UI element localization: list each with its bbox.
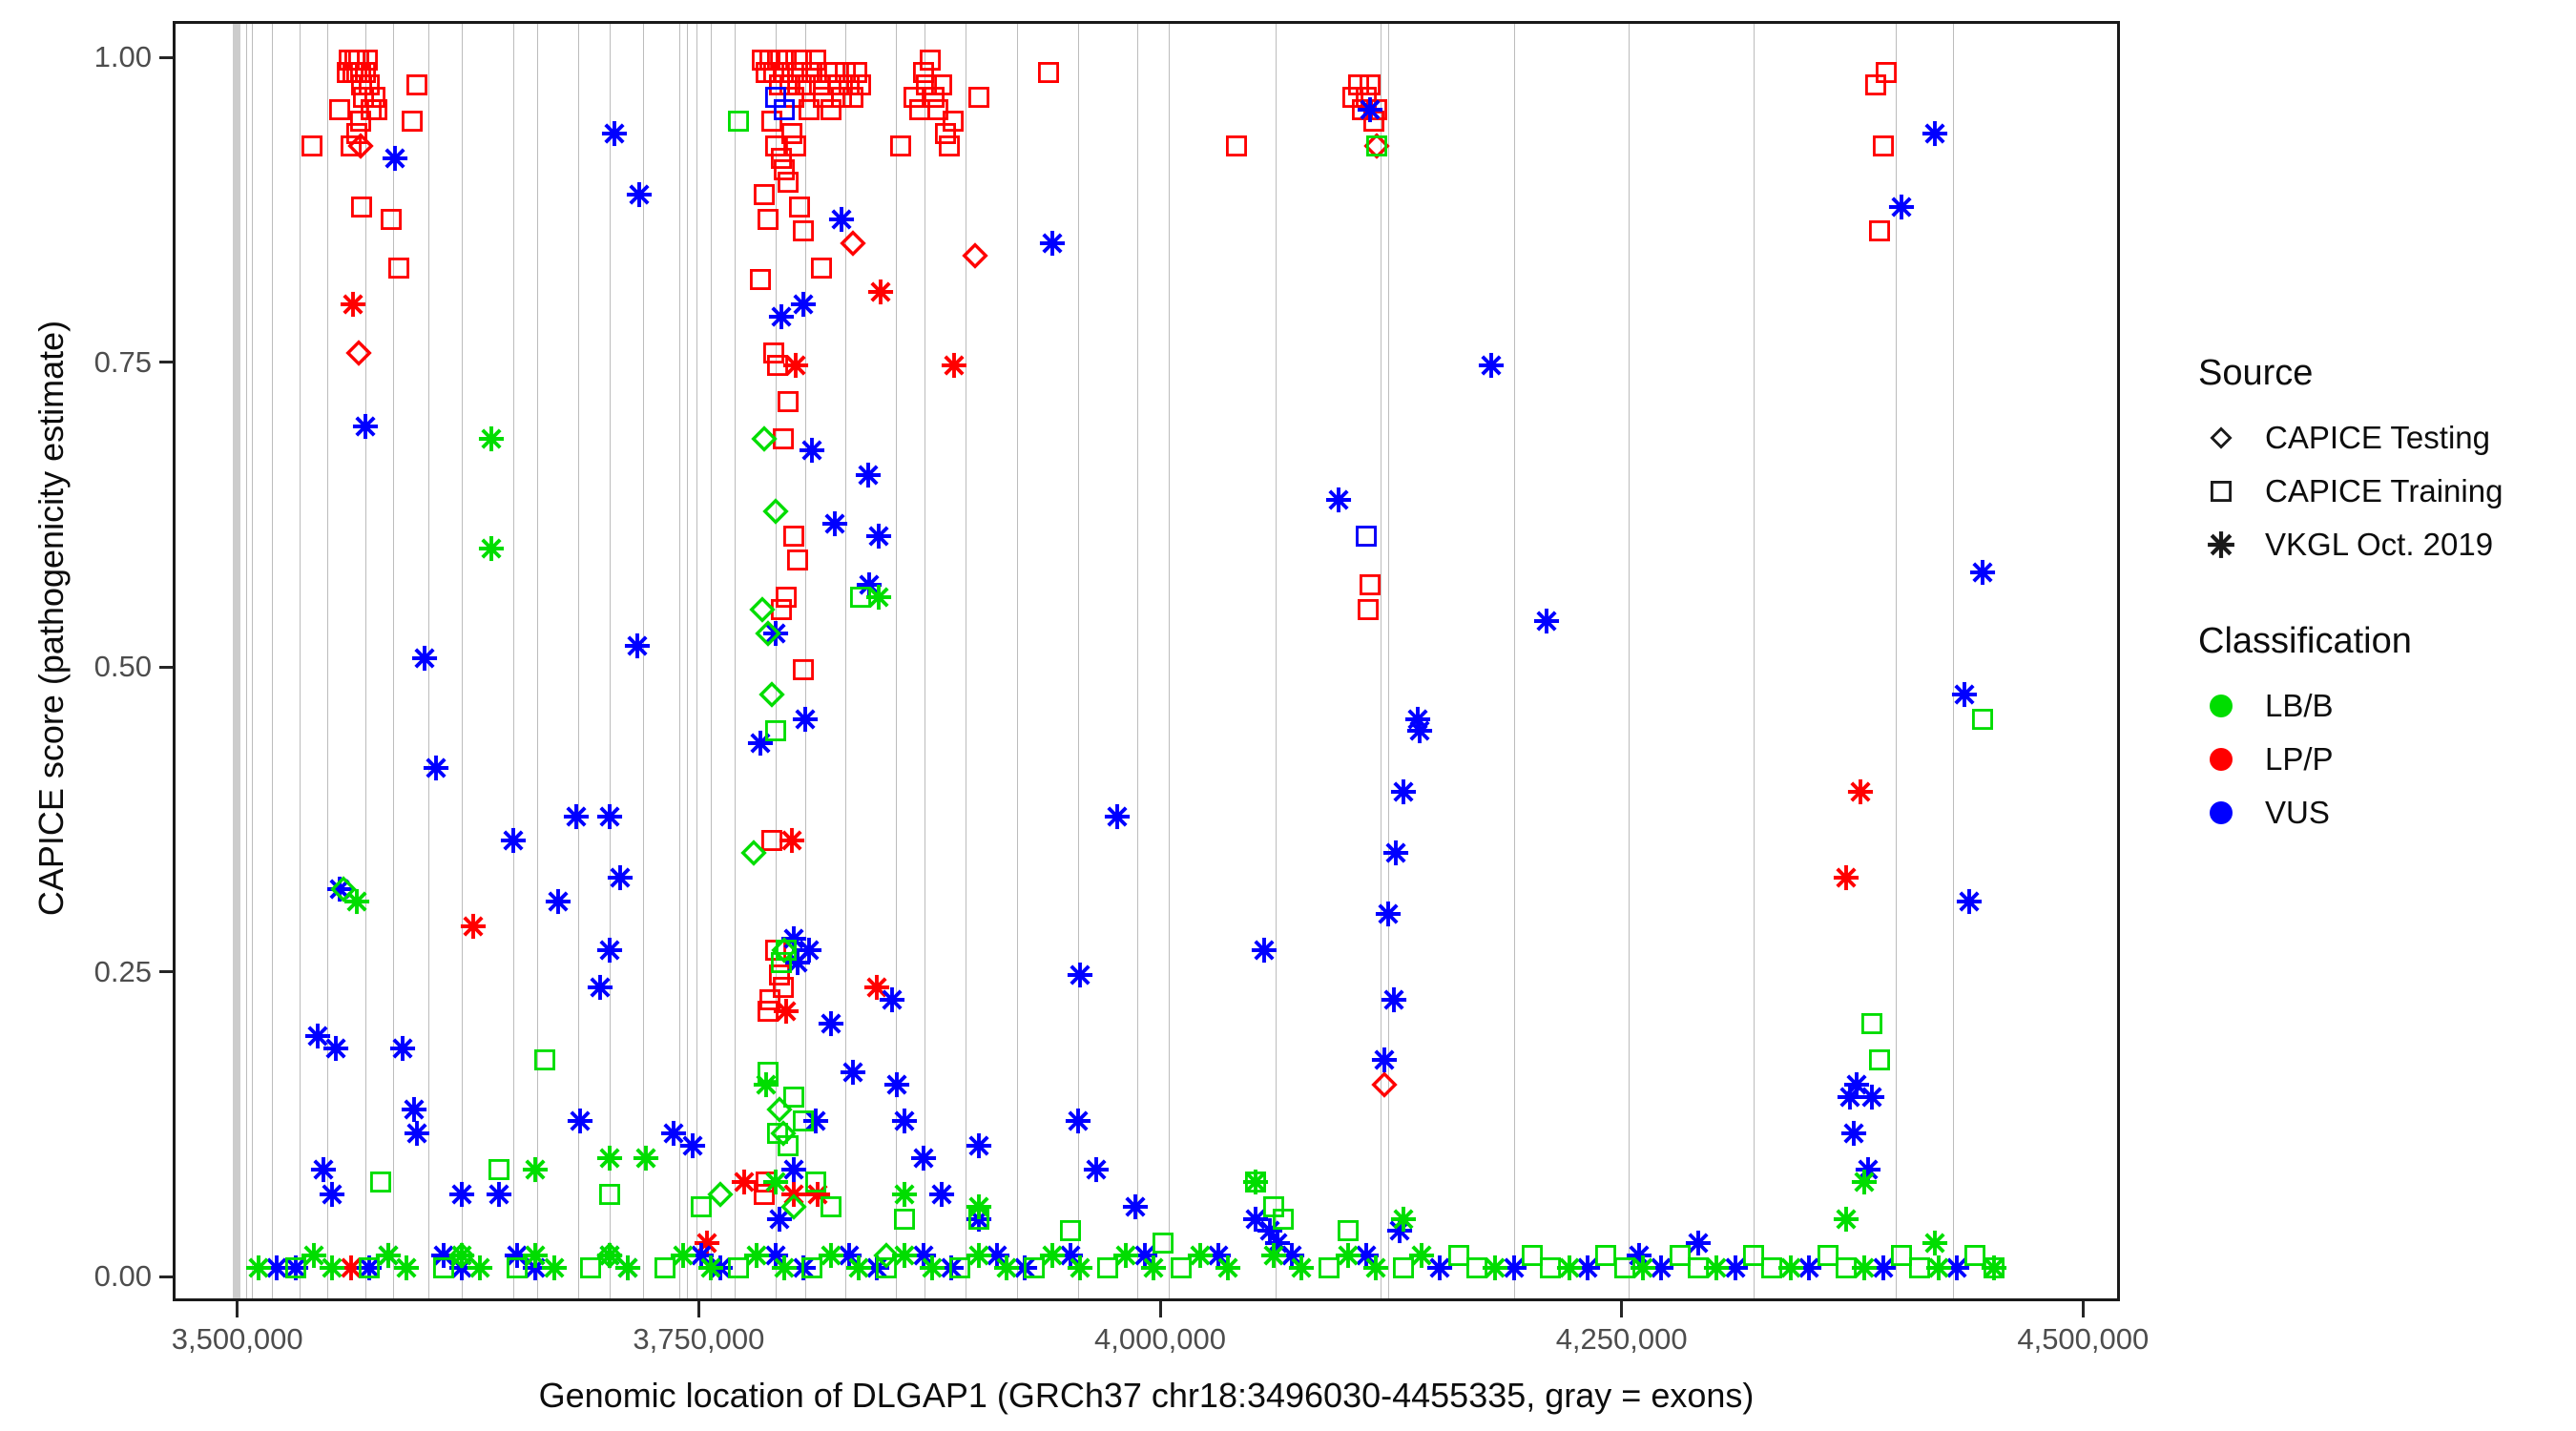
x-tick-label: 3,500,000 — [172, 1322, 303, 1357]
data-point-asterisk — [392, 1254, 421, 1282]
y-tick-label: 0.25 — [94, 955, 152, 989]
y-tick-mark — [159, 361, 173, 363]
data-point-square — [939, 135, 960, 156]
data-point-square — [1761, 1257, 1782, 1278]
exon-line — [1137, 24, 1138, 1298]
exon-band-start — [233, 24, 240, 1298]
data-point-asterisk — [693, 1229, 721, 1257]
data-point-asterisk — [1942, 1254, 1971, 1282]
data-point-square — [1024, 1257, 1045, 1278]
exon-line — [537, 24, 538, 1298]
data-point-square — [774, 159, 795, 180]
data-point-diamond — [348, 134, 373, 158]
data-point-asterisk — [459, 912, 488, 941]
data-point-square — [778, 391, 799, 412]
y-tick-mark — [159, 666, 173, 669]
data-point-asterisk — [1832, 1205, 1860, 1234]
legend-item-vkgl-oct-2019[interactable]: VKGL Oct. 2019 — [2194, 518, 2557, 571]
data-point-asterisk — [1038, 229, 1067, 258]
data-point-square — [793, 220, 814, 241]
exon-line — [1896, 24, 1897, 1298]
exon-line — [1754, 24, 1755, 1298]
data-point-square — [846, 62, 867, 83]
data-point-asterisk — [779, 1180, 808, 1209]
data-point-asterisk — [789, 290, 818, 319]
data-point-asterisk — [521, 1254, 550, 1282]
x-tick-mark — [1159, 1301, 1162, 1317]
data-point-square — [821, 1196, 841, 1217]
data-point-asterisk — [381, 144, 409, 173]
x-tick-label: 3,750,000 — [633, 1322, 764, 1357]
data-point-square — [821, 99, 841, 120]
data-point-square — [767, 50, 788, 71]
data-point-square — [1869, 220, 1890, 241]
data-point-square — [771, 599, 792, 620]
data-point-square — [890, 135, 911, 156]
data-point-square — [402, 111, 423, 132]
data-point-square — [351, 74, 372, 95]
x-axis: 3,500,0003,750,0004,000,0004,250,0004,50… — [0, 1301, 2576, 1431]
data-point-square — [789, 197, 810, 218]
data-point-asterisk — [783, 948, 812, 977]
data-point-asterisk — [1407, 1241, 1436, 1270]
data-point-asterisk — [400, 1095, 428, 1124]
data-point-square — [1360, 574, 1381, 595]
data-point-diamond — [771, 1121, 796, 1146]
data-point-diamond — [841, 231, 865, 256]
data-point-asterisk — [1950, 680, 1979, 709]
data-point-square — [1876, 62, 1897, 83]
data-point-asterisk — [844, 1254, 873, 1282]
y-tick-label: 1.00 — [94, 40, 152, 74]
data-point-asterisk — [632, 1144, 660, 1172]
data-point-asterisk — [1241, 1205, 1270, 1234]
x-tick-mark — [236, 1301, 239, 1317]
data-point-asterisk — [854, 461, 883, 489]
legend-label: VUS — [2265, 795, 2330, 831]
exon-line — [805, 24, 806, 1298]
y-tick-mark — [159, 56, 173, 59]
data-point-square — [1153, 1233, 1174, 1254]
plot-surface — [176, 24, 2117, 1298]
data-point-asterisk — [1403, 705, 1432, 734]
data-point-asterisk — [374, 1241, 403, 1270]
data-point-square — [1356, 87, 1377, 108]
data-point-square — [350, 111, 371, 132]
data-point-square — [763, 62, 784, 83]
data-point-asterisk — [1278, 1241, 1306, 1270]
x-axis-title: Genomic location of DLGAP1 (GRCh37 chr18… — [173, 1376, 2120, 1416]
data-point-asterisk — [1259, 1241, 1288, 1270]
data-point-asterisk — [600, 119, 629, 148]
data-point-square — [778, 1135, 799, 1156]
data-point-asterisk — [1361, 1254, 1390, 1282]
diamond-icon — [2194, 411, 2248, 465]
data-point-square — [507, 1257, 528, 1278]
circle-icon — [2194, 733, 2248, 786]
data-point-square — [346, 123, 367, 144]
data-point-square — [370, 1172, 391, 1192]
data-point-square — [285, 1257, 306, 1278]
data-point-square — [388, 258, 409, 279]
data-point-asterisk — [789, 1254, 818, 1282]
data-point-asterisk — [835, 1241, 863, 1270]
data-point-square — [824, 62, 845, 83]
data-point-asterisk — [1721, 1254, 1750, 1282]
data-point-square — [359, 1257, 380, 1278]
data-point-square — [1540, 1257, 1561, 1278]
y-axis: CAPICE score (pathogenicity estimate) 0.… — [0, 0, 173, 1322]
data-point-asterisk — [1858, 1083, 1886, 1111]
exon-line — [578, 24, 579, 1298]
data-point-square — [763, 342, 784, 363]
data-point-asterisk — [1370, 1046, 1399, 1074]
data-point-square — [366, 99, 387, 120]
data-point-asterisk — [485, 1180, 513, 1209]
exon-line — [696, 24, 697, 1298]
data-point-square — [1818, 1245, 1839, 1266]
data-point-square — [799, 99, 820, 120]
data-point-square — [337, 62, 358, 83]
data-point-square — [1226, 135, 1247, 156]
exon-line — [924, 24, 925, 1298]
data-point-asterisk — [1921, 1229, 1949, 1257]
x-tick-label: 4,500,000 — [2017, 1322, 2149, 1357]
data-point-asterisk — [1381, 839, 1410, 867]
data-point-asterisk — [1887, 193, 1916, 221]
data-point-asterisk — [1066, 961, 1094, 989]
data-point-square — [813, 87, 834, 108]
circle-icon — [2194, 679, 2248, 733]
data-point-asterisk — [300, 1241, 328, 1270]
legend-label: LB/B — [2265, 688, 2334, 724]
data-point-square — [1263, 1196, 1284, 1217]
data-point-square — [756, 1172, 777, 1192]
legend-item-vus[interactable]: VUS — [2194, 786, 2557, 840]
data-point-asterisk — [244, 1254, 273, 1282]
data-point-asterisk — [669, 1241, 697, 1270]
data-point-asterisk — [864, 522, 893, 550]
legend-item-lb-b[interactable]: LB/B — [2194, 679, 2557, 733]
data-point-square — [781, 123, 802, 144]
data-point-square — [752, 50, 773, 71]
data-point-square — [968, 87, 989, 108]
data-point-square — [1836, 1257, 1857, 1278]
data-point-asterisk — [821, 509, 849, 538]
data-point-asterisk — [1702, 1254, 1731, 1282]
data-point-asterisk — [477, 425, 506, 453]
data-point-square — [1522, 1245, 1543, 1266]
data-point-square — [1869, 1049, 1890, 1070]
data-point-asterisk — [1111, 1241, 1140, 1270]
data-point-asterisk — [1836, 1083, 1864, 1111]
data-point-asterisk — [339, 290, 367, 319]
data-point-asterisk — [1846, 778, 1875, 806]
data-point-square — [1366, 135, 1387, 156]
data-point-square — [805, 50, 826, 71]
exon-line — [1629, 24, 1630, 1298]
data-point-diamond — [752, 426, 777, 451]
data-point-asterisk — [1389, 778, 1418, 806]
data-point-square — [1319, 1257, 1340, 1278]
data-point-square — [1356, 526, 1377, 547]
data-point-square — [728, 1257, 749, 1278]
exon-line — [966, 24, 966, 1298]
data-point-asterisk — [1082, 1155, 1111, 1184]
data-point-square — [488, 1159, 509, 1180]
data-point-square — [580, 1257, 601, 1278]
data-point-asterisk — [965, 1131, 993, 1160]
exon-line — [776, 24, 777, 1298]
data-point-square — [361, 99, 382, 120]
data-point-asterisk — [862, 973, 891, 1002]
data-point-square — [433, 1257, 454, 1278]
data-point-square — [1865, 74, 1886, 95]
data-point-asterisk — [1287, 1254, 1316, 1282]
data-point-diamond — [1372, 1072, 1397, 1097]
data-point-square — [769, 74, 790, 95]
data-point-square — [1670, 1245, 1691, 1266]
data-point-asterisk — [965, 1192, 993, 1221]
data-point-square — [876, 1257, 897, 1278]
data-point-asterisk — [1385, 1216, 1414, 1245]
data-point-asterisk — [1839, 1119, 1868, 1148]
x-tick-label: 4,000,000 — [1094, 1322, 1226, 1357]
data-point-square — [343, 62, 364, 83]
data-point-asterisk — [983, 1241, 1011, 1270]
data-point-square — [1595, 1245, 1616, 1266]
data-point-square — [909, 99, 930, 120]
data-point-square — [776, 50, 797, 71]
data-point-square — [1964, 1245, 1985, 1266]
data-point-square — [1356, 526, 1377, 547]
data-point-square — [759, 989, 780, 1010]
data-point-square — [329, 99, 350, 120]
data-point-asterisk — [1038, 1241, 1067, 1270]
data-point-asterisk — [337, 1254, 365, 1282]
data-point-square — [351, 197, 372, 218]
data-point-square — [771, 148, 792, 169]
data-point-square — [949, 1257, 970, 1278]
square-icon — [2194, 465, 2248, 518]
data-point-asterisk — [827, 205, 856, 234]
data-point-square — [1348, 74, 1369, 95]
exon-line — [896, 24, 897, 1298]
data-point-asterisk — [937, 1254, 966, 1282]
data-point-square — [654, 1257, 675, 1278]
data-point-square — [406, 74, 427, 95]
data-point-square — [783, 87, 804, 108]
data-point-square — [1984, 1257, 2005, 1278]
data-point-asterisk — [1214, 1254, 1242, 1282]
data-point-asterisk — [1481, 1254, 1509, 1282]
exon-line — [679, 24, 680, 1298]
exon-line — [1388, 24, 1389, 1298]
x-tick-mark — [697, 1301, 700, 1317]
exon-line — [735, 24, 736, 1298]
legend-item-lp-p[interactable]: LP/P — [2194, 733, 2557, 786]
data-point-asterisk — [623, 632, 652, 660]
data-point-asterisk — [965, 1241, 993, 1270]
data-point-asterisk — [1980, 1254, 2008, 1282]
data-point-square — [344, 50, 365, 71]
data-point-asterisk — [1832, 863, 1860, 892]
data-point-diamond — [756, 621, 780, 646]
data-point-square — [927, 99, 948, 120]
data-point-square — [811, 258, 832, 279]
data-point-square — [839, 74, 860, 95]
data-point-asterisk — [1842, 1070, 1871, 1099]
data-point-square — [850, 74, 871, 95]
data-point-asterisk — [742, 1241, 771, 1270]
data-point-asterisk — [801, 1107, 830, 1135]
data-point-square — [1338, 1220, 1359, 1241]
exon-line — [1276, 24, 1277, 1298]
data-point-asterisk — [779, 924, 808, 953]
data-point-asterisk — [927, 1180, 956, 1209]
legend-title-source: Source — [2198, 353, 2557, 394]
data-point-asterisk — [281, 1254, 310, 1282]
data-point-asterisk — [659, 1119, 688, 1148]
data-point-asterisk — [765, 1205, 794, 1234]
data-point-asterisk — [562, 802, 591, 831]
data-point-asterisk — [374, 1241, 403, 1270]
data-point-square — [894, 1209, 915, 1230]
data-point-asterisk — [817, 1241, 845, 1270]
data-point-square — [754, 184, 775, 205]
data-point-square — [691, 1196, 712, 1217]
data-point-square — [776, 587, 797, 608]
data-point-asterisk — [866, 278, 895, 306]
legend-group-source: Source CAPICE Testing CAPICE TrainingVKG… — [2194, 353, 2557, 571]
data-point-square — [761, 111, 782, 132]
exon-line — [300, 24, 301, 1298]
data-point-square — [920, 50, 941, 71]
data-point-square — [1861, 1013, 1882, 1034]
data-point-asterisk — [1405, 716, 1434, 745]
exon-line — [1017, 24, 1018, 1298]
exon-line — [272, 24, 273, 1298]
data-point-asterisk — [878, 985, 906, 1014]
exon-line — [252, 24, 253, 1298]
data-point-square — [968, 1209, 989, 1230]
y-tick-mark — [159, 1275, 173, 1278]
data-point-asterisk — [1066, 1254, 1094, 1282]
data-point-asterisk — [1256, 1216, 1284, 1245]
data-point-asterisk — [839, 1058, 867, 1087]
data-point-asterisk — [862, 1254, 891, 1282]
data-point-asterisk — [477, 534, 506, 563]
data-point-asterisk — [1532, 607, 1561, 635]
chart-root: CAPICE score (pathogenicity estimate) 0.… — [0, 0, 2576, 1431]
data-point-asterisk — [772, 997, 800, 1026]
data-point-asterisk — [1139, 1254, 1168, 1282]
data-point-asterisk — [909, 1144, 938, 1172]
data-point-asterisk — [1625, 1241, 1653, 1270]
data-point-square — [1245, 1172, 1266, 1192]
data-point-square — [1909, 1257, 1930, 1278]
data-point-square — [756, 62, 777, 83]
data-point-asterisk — [1186, 1241, 1215, 1270]
data-point-square — [774, 99, 795, 120]
data-point-asterisk — [318, 1180, 346, 1209]
data-point-square — [759, 50, 780, 71]
legend: Source CAPICE Testing CAPICE TrainingVKG… — [2194, 353, 2557, 889]
data-point-asterisk — [779, 1155, 808, 1184]
exon-line — [428, 24, 429, 1298]
data-point-square — [750, 269, 771, 290]
data-point-asterisk — [566, 1107, 594, 1135]
data-point-asterisk — [767, 302, 796, 331]
data-point-square — [1891, 1245, 1912, 1266]
data-point-asterisk — [1425, 1254, 1454, 1282]
data-point-diamond — [759, 682, 784, 707]
data-point-asterisk — [992, 1254, 1021, 1282]
exon-line — [1514, 24, 1515, 1298]
data-point-asterisk — [1131, 1241, 1159, 1270]
data-point-square — [817, 62, 838, 83]
data-point-asterisk — [883, 1070, 911, 1099]
data-point-asterisk — [544, 887, 572, 916]
data-point-asterisk — [521, 1155, 550, 1184]
data-point-asterisk — [1241, 1168, 1270, 1196]
data-point-asterisk — [1776, 1254, 1805, 1282]
data-point-square — [931, 74, 952, 95]
data-point-square — [1688, 1257, 1709, 1278]
exon-line — [1381, 24, 1381, 1298]
data-point-square — [769, 964, 790, 985]
exon-line — [687, 24, 688, 1298]
legend-title-classification: Classification — [2198, 621, 2557, 662]
data-point-asterisk — [262, 1254, 291, 1282]
data-point-asterisk — [1869, 1254, 1898, 1282]
data-point-square — [767, 1123, 788, 1144]
data-point-asterisk — [940, 351, 968, 380]
data-point-asterisk — [466, 1254, 494, 1282]
data-point-square — [831, 87, 852, 108]
legend-item-capice-training[interactable]: CAPICE Training — [2194, 465, 2557, 518]
data-point-square — [767, 355, 788, 376]
exon-line — [513, 24, 514, 1298]
data-point-square — [381, 209, 402, 230]
data-point-square — [791, 50, 812, 71]
exon-line — [393, 24, 394, 1298]
data-point-square — [776, 940, 797, 961]
data-point-asterisk — [1334, 1241, 1362, 1270]
data-point-asterisk — [1352, 1241, 1381, 1270]
data-point-square — [1342, 87, 1363, 108]
data-point-asterisk — [803, 1180, 832, 1209]
data-point-asterisk — [1955, 887, 1984, 916]
legend-item-capice-testing[interactable]: CAPICE Testing — [2194, 411, 2557, 465]
exon-line — [365, 24, 366, 1298]
data-point-square — [771, 952, 792, 973]
y-tick-label: 0.75 — [94, 345, 152, 380]
data-point-square — [916, 74, 937, 95]
data-point-square — [350, 62, 371, 83]
data-point-square — [904, 87, 924, 108]
data-point-square — [785, 135, 806, 156]
data-point-asterisk — [817, 1009, 845, 1038]
data-point-asterisk — [1324, 486, 1353, 514]
data-point-square — [1352, 99, 1373, 120]
data-point-square — [1466, 1257, 1487, 1278]
data-point-asterisk — [798, 436, 826, 465]
data-point-asterisk — [1647, 1254, 1675, 1282]
data-point-asterisk — [403, 1119, 431, 1148]
data-point-asterisk — [540, 1254, 569, 1282]
x-tick-label: 4,250,000 — [1556, 1322, 1688, 1357]
